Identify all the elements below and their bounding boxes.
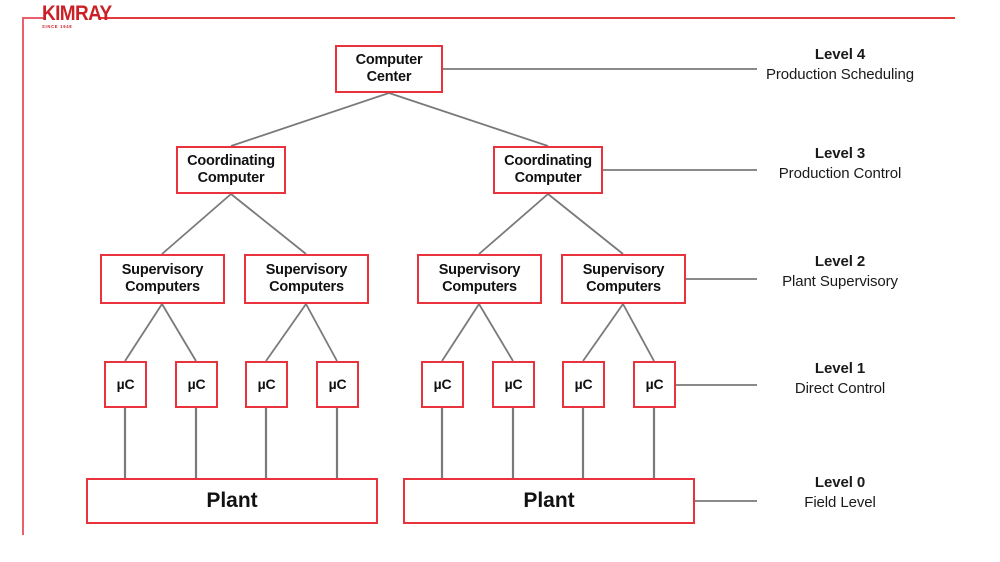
tree-edge (231, 93, 389, 146)
tree-edge (125, 304, 162, 361)
node-coordinating-computer: Coordinating Computer (493, 146, 603, 194)
node-microcontroller: µC (245, 361, 288, 408)
tree-edge (266, 304, 306, 361)
node-microcontroller: µC (104, 361, 147, 408)
level-title: Level 2 (715, 253, 965, 272)
node-microcontroller: µC (175, 361, 218, 408)
node-plant: Plant (403, 478, 695, 524)
node-microcontroller: µC (316, 361, 359, 408)
level-description: Plant Supervisory (715, 272, 965, 292)
node-microcontroller: µC (633, 361, 676, 408)
frame-top-stub (22, 17, 44, 19)
level-label-group: Level 2Plant Supervisory (715, 253, 965, 292)
level-title: Level 0 (715, 474, 965, 493)
node-supervisory-computers: Supervisory Computers (100, 254, 225, 304)
node-microcontroller: µC (492, 361, 535, 408)
kimray-logo: KIMRAY SINCE 1948 (42, 3, 104, 29)
level-description: Production Control (715, 164, 965, 184)
tree-edge (548, 194, 623, 254)
level-title: Level 4 (715, 46, 965, 65)
level-label-group: Level 1Direct Control (715, 360, 965, 399)
level-label-group: Level 4Production Scheduling (715, 46, 965, 85)
tree-edge (162, 304, 196, 361)
tree-edge (583, 304, 623, 361)
level-description: Field Level (715, 493, 965, 513)
tree-edge (623, 304, 654, 361)
tree-edge (479, 304, 513, 361)
level-description: Direct Control (715, 379, 965, 399)
frame-top-rule (100, 17, 955, 19)
level-title: Level 3 (715, 145, 965, 164)
tree-edge (162, 194, 231, 254)
node-computer-center: Computer Center (335, 45, 443, 93)
node-microcontroller: µC (562, 361, 605, 408)
tree-edge (389, 93, 548, 146)
node-plant: Plant (86, 478, 378, 524)
level-label-group: Level 0Field Level (715, 474, 965, 513)
node-coordinating-computer: Coordinating Computer (176, 146, 286, 194)
level-title: Level 1 (715, 360, 965, 379)
node-microcontroller: µC (421, 361, 464, 408)
level-label-group: Level 3Production Control (715, 145, 965, 184)
diagram-canvas: KIMRAY SINCE 1948 Computer CenterCoordin… (0, 0, 1000, 562)
tree-edge (479, 194, 548, 254)
kimray-logo-tagline: SINCE 1948 (42, 25, 104, 29)
tree-edge (306, 304, 337, 361)
node-supervisory-computers: Supervisory Computers (244, 254, 369, 304)
tree-edge (442, 304, 479, 361)
node-supervisory-computers: Supervisory Computers (561, 254, 686, 304)
frame-left-rule (22, 17, 24, 535)
tree-edge (231, 194, 306, 254)
kimray-logo-wordmark: KIMRAY (42, 3, 104, 24)
level-description: Production Scheduling (715, 65, 965, 85)
node-supervisory-computers: Supervisory Computers (417, 254, 542, 304)
